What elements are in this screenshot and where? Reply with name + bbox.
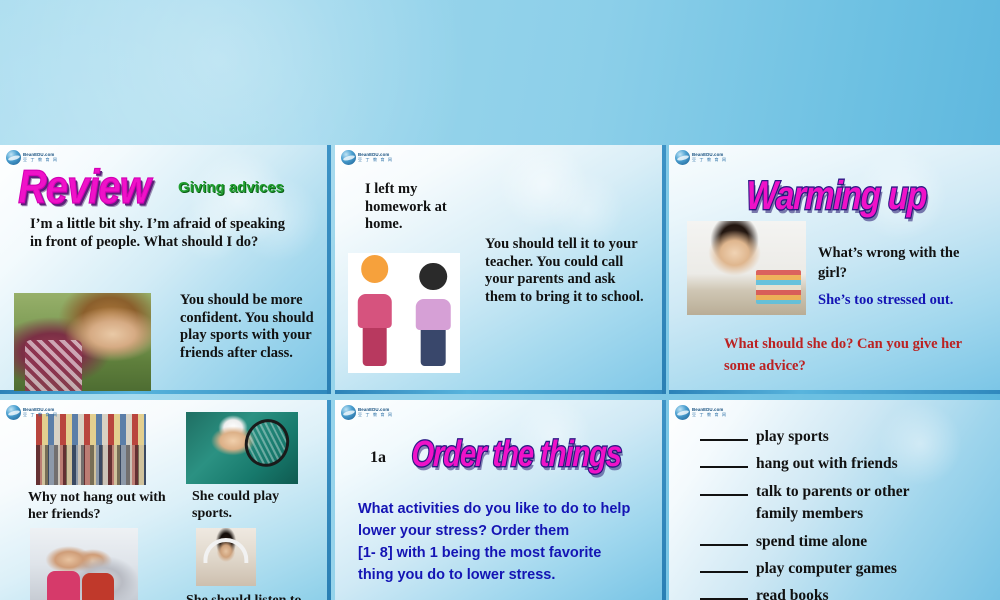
warming-up-question-text: What’s wrong with the girl? <box>818 244 990 283</box>
girl-body <box>358 294 392 328</box>
order-blank-input[interactable] <box>700 532 748 546</box>
homework-answer-text: You should tell it to your teacher. You … <box>485 236 650 307</box>
brand-logo: BeanEDU.com 豆 丁 教 育 网 <box>675 150 727 165</box>
tennis-player-photo <box>186 412 298 484</box>
globe-logo-icon <box>675 405 690 420</box>
logo-subtitle-text: 豆 丁 教 育 网 <box>358 158 393 162</box>
list-item-label: talk to parents or other <box>756 484 910 500</box>
logo-subtitle-text: 豆 丁 教 育 网 <box>23 158 58 162</box>
order-instructions-line-2: lower your stress? Order them <box>358 520 650 542</box>
order-blank-input[interactable] <box>700 427 748 441</box>
list-item[interactable]: talk to parents or other <box>700 482 1000 500</box>
order-blank-input[interactable] <box>700 559 748 573</box>
list-item-label: read books <box>756 588 829 600</box>
slide-subtitle-giving-advices: Giving advices <box>178 179 284 196</box>
order-instructions-line-1: What activities do you like to do to hel… <box>358 498 650 520</box>
girl-legs <box>363 328 388 366</box>
order-blank-input[interactable] <box>700 586 748 600</box>
slide-right-rule <box>662 145 666 394</box>
brand-logo: BeanEDU.com 豆 丁 教 育 网 <box>675 405 727 420</box>
boy-figure <box>408 263 457 369</box>
list-item-label: spend time alone <box>756 534 867 550</box>
girls-at-computer-photo <box>30 528 138 600</box>
list-item-label: play computer games <box>756 561 897 577</box>
logo-subtitle-text: 豆 丁 教 育 网 <box>692 413 727 417</box>
advice-text-hang-out: Why not hang out with her friends? <box>28 489 178 523</box>
crowded-street-photo <box>36 414 146 485</box>
list-item-label: hang out with friends <box>756 456 898 472</box>
slide-right-rule <box>662 400 666 600</box>
logo-subtitle-text: 豆 丁 教 育 网 <box>358 413 393 417</box>
mother-comforting-boy-photo <box>14 293 151 391</box>
brand-logo: BeanEDU.com 豆 丁 教 育 网 <box>6 150 58 165</box>
list-item[interactable]: play computer games <box>700 559 1000 577</box>
slide-thumbnail-page: BeanEDU.com 豆 丁 教 育 网 BeanEDU.com 豆 丁 教 … <box>0 0 1000 600</box>
list-item[interactable]: read books <box>700 586 1000 600</box>
order-instructions-line-4: thing you do to lower stress. <box>358 564 650 586</box>
list-item-continuation: family members <box>700 505 1000 523</box>
advice-text-play-sports: She could play sports. <box>192 488 322 522</box>
slide-right-rule <box>327 400 331 600</box>
stressed-girl-with-books-photo <box>687 221 806 315</box>
list-item[interactable]: spend time alone <box>700 532 1000 550</box>
order-instructions-line-3: [1- 8] with 1 being the most favorite <box>358 542 650 564</box>
globe-logo-icon <box>6 150 21 165</box>
boy-legs <box>421 330 446 366</box>
slide-bottom-rule <box>669 390 1000 394</box>
globe-logo-icon <box>341 405 356 420</box>
warming-up-followup-text: What should she do? Can you give her som… <box>724 334 964 378</box>
advice-text-listen-to: She should listen to <box>186 592 346 600</box>
girl-head <box>361 255 389 283</box>
brand-logo: BeanEDU.com 豆 丁 教 育 网 <box>341 150 393 165</box>
slide-title-warming-up: Warming up <box>746 175 927 215</box>
logo-subtitle-text: 豆 丁 教 育 网 <box>23 413 58 417</box>
slide-bottom-rule <box>335 390 666 394</box>
list-item-label: play sports <box>756 429 829 445</box>
warming-up-answer-text: She’s too stressed out. <box>818 292 998 310</box>
boy-body <box>416 299 450 331</box>
list-item[interactable]: hang out with friends <box>700 454 1000 472</box>
activity-order-list: play sports hang out with friends talk t… <box>700 427 1000 600</box>
list-item[interactable]: play sports <box>700 427 1000 445</box>
globe-logo-icon <box>6 405 21 420</box>
exercise-number-label: 1a <box>370 448 386 468</box>
order-blank-input[interactable] <box>700 482 748 496</box>
globe-logo-icon <box>675 150 690 165</box>
boy-and-girl-students-clipart <box>348 253 460 373</box>
girl-with-headphones-photo <box>196 528 256 586</box>
girl-figure <box>350 255 399 368</box>
slide-title-order-the-things: Order the things <box>411 437 622 474</box>
slide-title-review: Review <box>18 164 150 211</box>
order-blank-input[interactable] <box>700 454 748 468</box>
review-question-text: I’m a little bit shy. I’m afraid of spea… <box>30 216 290 251</box>
logo-subtitle-text: 豆 丁 教 育 网 <box>692 158 727 162</box>
review-answer-text: You should be more confident. You should… <box>180 292 320 363</box>
brand-logo: BeanEDU.com 豆 丁 教 育 网 <box>341 405 393 420</box>
slide-right-rule <box>327 145 331 394</box>
globe-logo-icon <box>341 150 356 165</box>
homework-problem-text: I left my homework at home. <box>365 181 455 234</box>
boy-head <box>419 263 447 291</box>
brand-logo: BeanEDU.com 豆 丁 教 育 网 <box>6 405 58 420</box>
